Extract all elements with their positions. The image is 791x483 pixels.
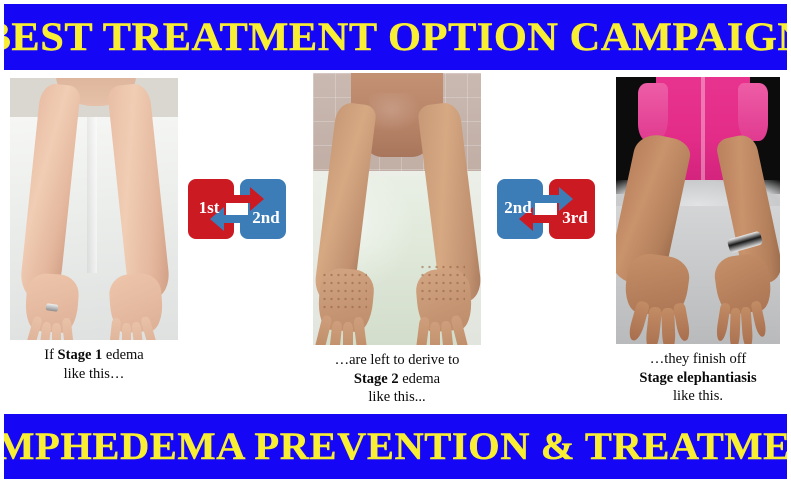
finger <box>729 308 740 344</box>
caption-line: Stage elephantiasis <box>595 369 791 388</box>
caption-line: like this... <box>294 388 500 407</box>
stage-panel-3: …they finish offStage elephantiasislike … <box>616 77 780 406</box>
caption-stage-1: If Stage 1 edemalike this… <box>0 346 192 383</box>
photo-stage-1-edema <box>10 78 178 340</box>
shirt-sleeve-right <box>738 83 768 141</box>
shirt-sleeve-left <box>638 83 668 141</box>
caption-stage-3: …they finish offStage elephantiasislike … <box>595 350 791 406</box>
photo-stage-2-edema <box>313 73 481 345</box>
bottom-banner: LYMPHEDEMA PREVENTION & TREATMENT <box>4 414 787 479</box>
caption-line: …are left to derive to <box>294 351 500 370</box>
caption-emphasis: Stage elephantiasis <box>639 370 756 386</box>
caption-line: Stage 2 edema <box>294 370 500 389</box>
finger <box>52 323 61 340</box>
finger-ring <box>46 303 59 312</box>
badge-label-left: 2nd <box>504 198 532 217</box>
skin-freckles <box>419 263 465 305</box>
finger <box>343 322 353 345</box>
badge-label-left: 1st <box>199 198 220 217</box>
skin-freckles <box>321 271 367 313</box>
badge-label-right: 2nd <box>252 208 280 227</box>
badge-label-right: 3rd <box>562 208 588 227</box>
caption-line: …they finish off <box>595 350 791 369</box>
campaign-subtitle: LYMPHEDEMA PREVENTION & TREATMENT <box>4 427 787 466</box>
caption-emphasis: Stage 2 <box>354 371 399 387</box>
campaign-title: BEST TREATMENT OPTION CAMPAIGN <box>4 17 787 57</box>
stage-panel-2: …are left to derive toStage 2 edemalike … <box>313 73 481 407</box>
caption-line: If Stage 1 edema <box>0 346 192 365</box>
interlocking-arrows-graphic: 1st 2nd <box>182 173 294 245</box>
sequence-badge-2nd-3rd: 2nd 3rd <box>491 173 603 245</box>
finger <box>122 323 131 340</box>
caption-line: like this. <box>595 387 791 406</box>
caption-line: like this… <box>0 365 192 384</box>
finger <box>430 322 440 345</box>
stage-panel-1: If Stage 1 edemalike this… <box>10 78 178 383</box>
shirt-placket <box>701 77 705 185</box>
top-banner: BEST TREATMENT OPTION CAMPAIGN <box>4 4 787 70</box>
sequence-badge-1st-2nd: 1st 2nd <box>182 173 294 245</box>
caption-stage-2: …are left to derive toStage 2 edemalike … <box>294 351 500 407</box>
caption-emphasis: Stage 1 <box>58 347 103 363</box>
photo-stage-elephantiasis <box>616 77 780 344</box>
interlocking-arrows-graphic: 2nd 3rd <box>491 173 603 245</box>
